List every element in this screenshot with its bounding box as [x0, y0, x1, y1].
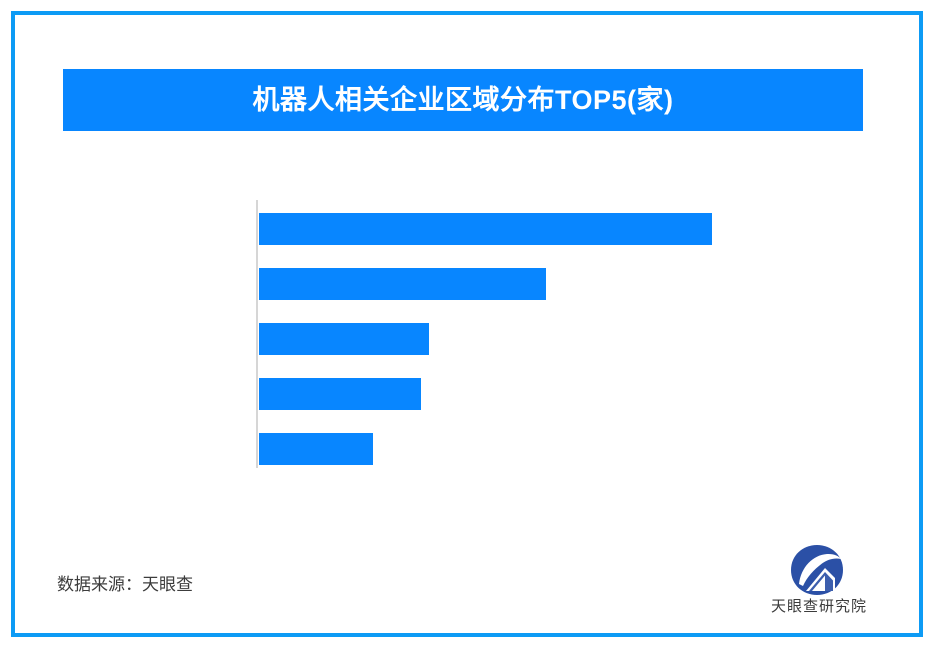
tianyancha-logo-icon [786, 545, 848, 595]
title-banner: 机器人相关企业区域分布TOP5(家) [63, 69, 863, 131]
bar-1 [259, 268, 546, 300]
infographic-poster: 机器人相关企业区域分布TOP5(家) 广东省 江苏省 山东省 浙江省 上海市 数… [0, 0, 936, 648]
chart-y-axis-line [256, 200, 258, 468]
page-title: 机器人相关企业区域分布TOP5(家) [252, 87, 673, 114]
bar-3 [259, 378, 421, 410]
data-source-text: 数据来源：天眼查 [57, 570, 193, 595]
bar-2 [259, 323, 429, 355]
bar-4 [259, 433, 373, 465]
brand-logo: 天眼查研究院 [757, 545, 881, 621]
bar-0 [259, 213, 712, 245]
bar-chart: 广东省 江苏省 山东省 浙江省 上海市 [0, 196, 936, 476]
logo-brand-name: 天眼查研究院 [757, 595, 881, 616]
